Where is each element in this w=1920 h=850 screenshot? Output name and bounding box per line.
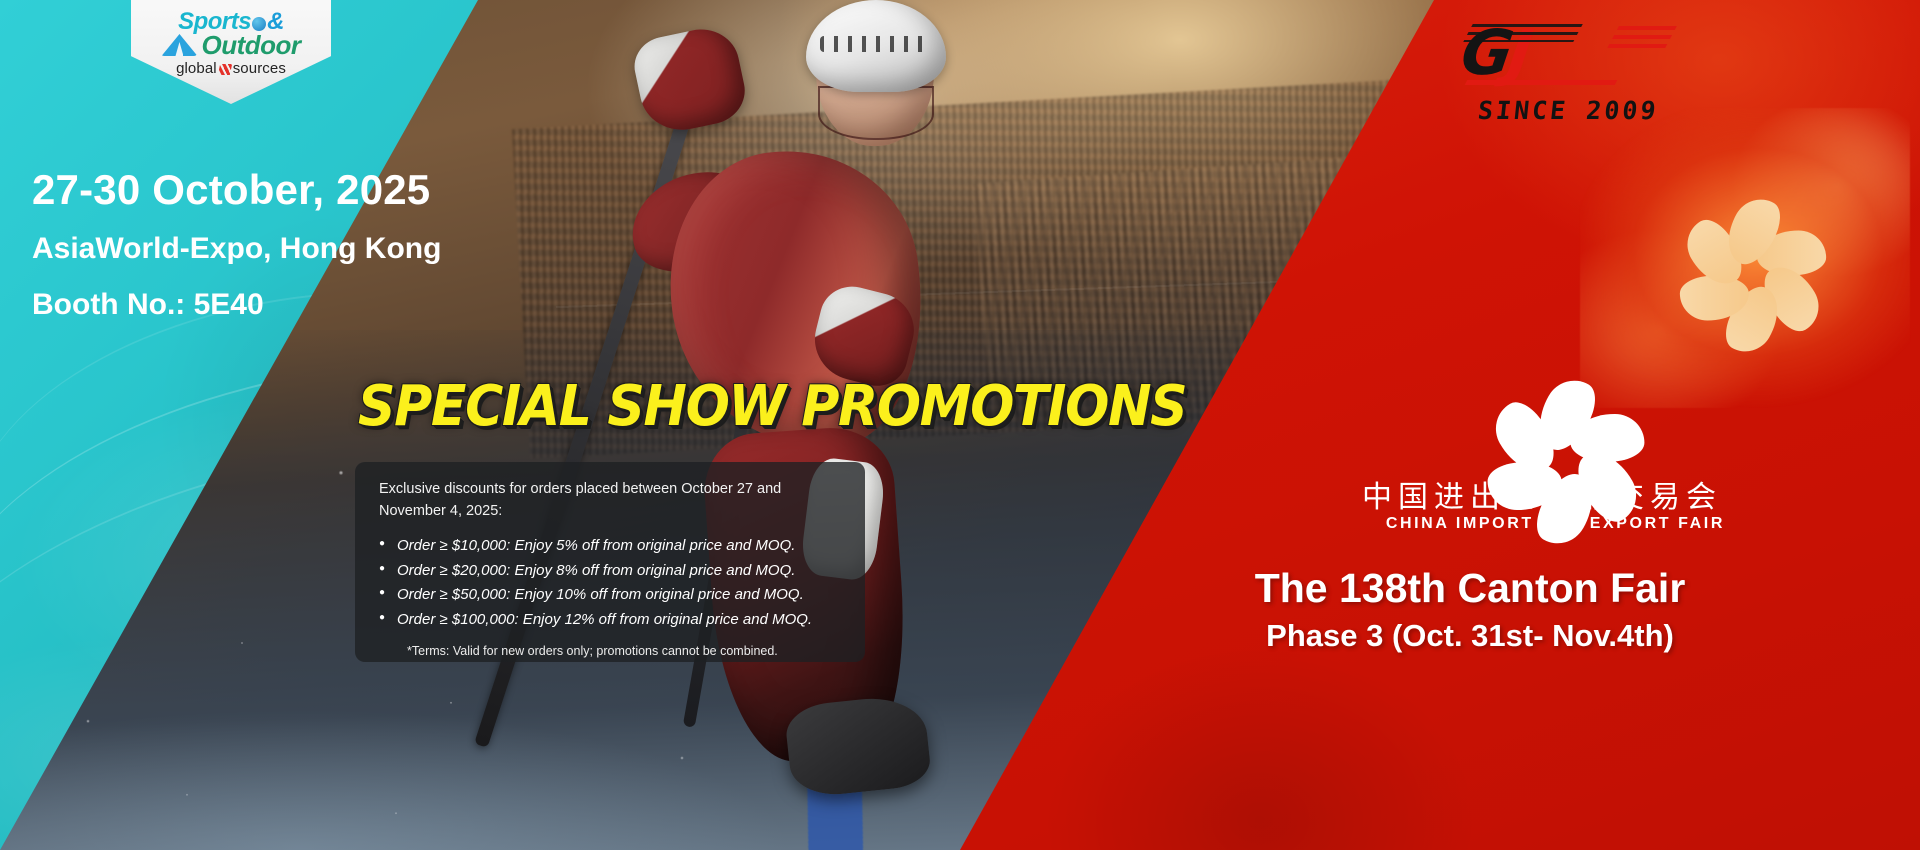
- canton-fair-chinese-name: 中国进出口商品交易会: [1362, 472, 1722, 516]
- trade-show-banner: Sports& Outdoor global sources 27-30 Oct…: [0, 0, 1920, 850]
- gy-red-bar-icon: [1465, 80, 1618, 85]
- ornament-flower-icon: [1678, 178, 1828, 328]
- badge-outdoor-text: Outdoor: [201, 32, 300, 58]
- helmet-cage: [818, 86, 934, 140]
- tent-icon: [161, 34, 197, 56]
- promotion-tier-item: Order ≥ $100,000: Enjoy 12% off from ori…: [379, 608, 845, 633]
- badge-line-globalsources: global sources: [161, 61, 300, 76]
- event-venue: AsiaWorld-Expo, Hong Kong: [32, 232, 441, 266]
- badge-logo: Sports& Outdoor global sources: [161, 10, 300, 76]
- gy-dark-stripes-icon: [1463, 24, 1583, 42]
- gy-tagline: SINCE 2009: [1476, 96, 1660, 125]
- gy-company-logo: GJ SINCE 2009: [1452, 20, 1682, 140]
- badge-global-text: global: [176, 61, 217, 76]
- badge-line-outdoor: Outdoor: [161, 32, 300, 58]
- promotions-intro: Exclusive discounts for orders placed be…: [379, 478, 845, 522]
- player-skate: [784, 693, 933, 799]
- basketball-icon: [252, 17, 266, 31]
- event-dates: 27-30 October, 2025: [32, 166, 430, 214]
- promotion-tier-item: Order ≥ $20,000: Enjoy 8% off from origi…: [379, 559, 845, 584]
- global-sources-mark-icon: [218, 64, 232, 75]
- player-glove-left: [629, 22, 751, 138]
- event-booth-number: Booth No.: 5E40: [32, 288, 264, 322]
- promotions-tier-list: Order ≥ $10,000: Enjoy 5% off from origi…: [379, 534, 845, 632]
- canton-fair-title: The 138th Canton Fair: [1020, 565, 1920, 612]
- badge-sources-text: sources: [233, 61, 286, 76]
- player-helmet: [806, 0, 946, 92]
- canton-fair-english-name: CHINA IMPORT AND EXPORT FAIR: [1386, 515, 1725, 533]
- gy-red-stripes-icon: [1605, 26, 1677, 52]
- promotion-tier-item: Order ≥ $10,000: Enjoy 5% off from origi…: [379, 534, 845, 559]
- promotions-headline: SPECIAL SHOW PROMOTIONS: [358, 374, 1186, 439]
- promotions-terms: *Terms: Valid for new orders only; promo…: [379, 644, 845, 658]
- canton-fair-phase: Phase 3 (Oct. 31st- Nov.4th): [1020, 618, 1920, 654]
- promotion-tier-item: Order ≥ $50,000: Enjoy 10% off from orig…: [379, 583, 845, 608]
- promotions-box: Exclusive discounts for orders placed be…: [355, 462, 865, 662]
- gy-logo-mark: GJ: [1462, 20, 1662, 92]
